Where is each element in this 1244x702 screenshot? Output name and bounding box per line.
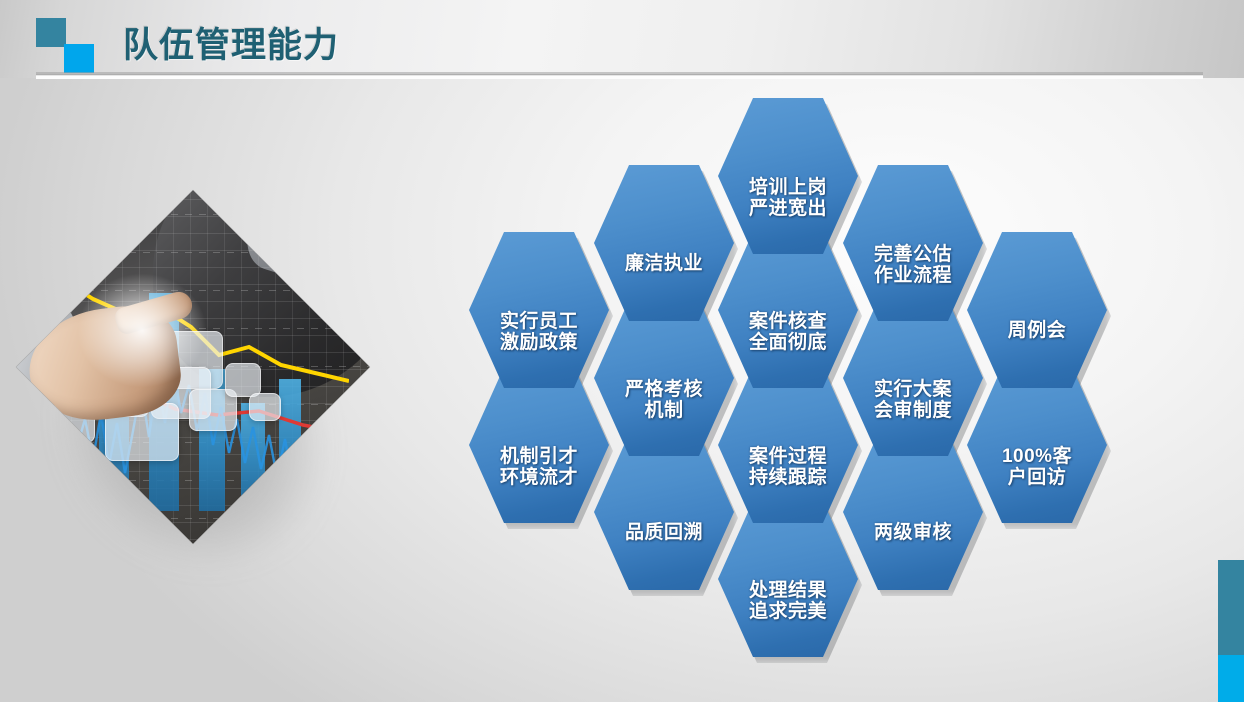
slide-root: 队伍管理能力	[0, 0, 1244, 702]
hex-label: 案件核查 全面彻底	[749, 311, 827, 354]
hex-label: 100%客 户回访	[1002, 446, 1072, 489]
hex-label: 品质回溯	[625, 522, 703, 544]
hex-label: 处理结果 追求完美	[749, 580, 827, 623]
hex-label: 完善公估 作业流程	[874, 244, 952, 287]
hex-label: 案件过程 持续跟踪	[749, 446, 827, 489]
hex-label: 实行员工 激励政策	[500, 311, 578, 354]
hex-label: 机制引才 环境流才	[500, 446, 578, 489]
hex-label: 实行大案 会审制度	[874, 379, 952, 422]
hex-label: 两级审核	[874, 522, 952, 544]
hex-label: 周例会	[1008, 320, 1067, 342]
hex-label: 严格考核 机制	[625, 379, 703, 422]
hex-label: 廉洁执业	[625, 253, 703, 275]
hex-label: 培训上岗 严进宽出	[749, 177, 827, 220]
hexagon-cluster: 实行员工 激励政策 机制引才 环境流才 廉洁执业 严格考核 机制 品质回溯 培训…	[0, 0, 1244, 702]
